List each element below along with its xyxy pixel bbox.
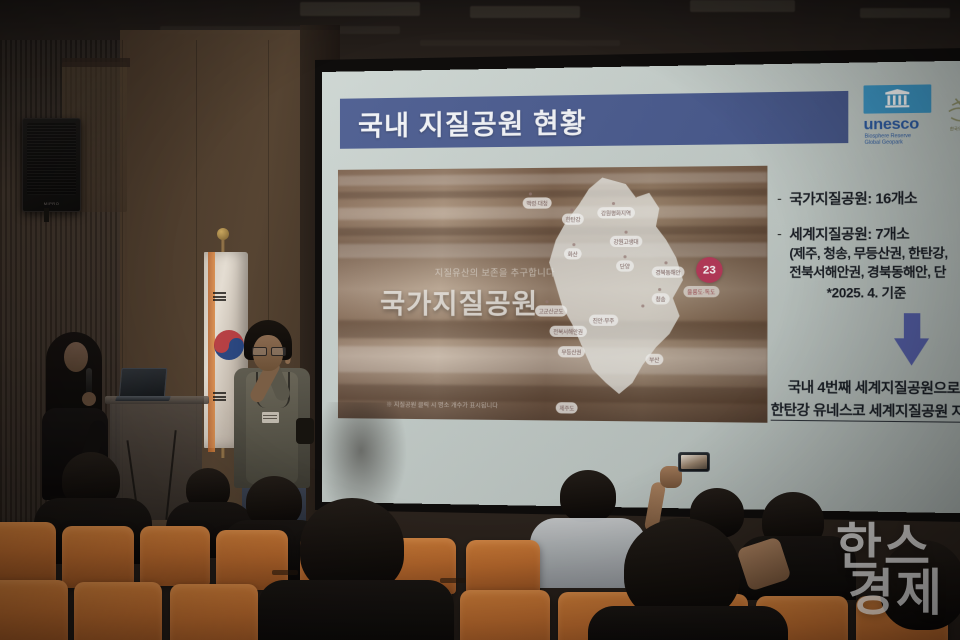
geopark-list-line2: 전북서해안권, 경북동해안, 단 bbox=[789, 264, 947, 281]
flag-fringe bbox=[208, 252, 215, 452]
press-watermark: 한스 경제 bbox=[836, 524, 944, 616]
map-label-jinan-muju: 진안·무주 bbox=[589, 315, 618, 326]
map-marker bbox=[570, 208, 573, 211]
map-badge-count: 23 bbox=[696, 257, 723, 283]
map-marker bbox=[658, 288, 661, 291]
unesco-logo: unesco Biosphere Reserve Global Geopark bbox=[864, 83, 960, 156]
as-of-date-note: *2025. 4. 기준 bbox=[827, 282, 906, 302]
map-marker bbox=[545, 300, 548, 303]
bullet-text: 국가지질공원: 16개소 bbox=[789, 189, 917, 208]
korea-geopark-map: 백령·대청 한탄강 강원평화지역 강원고생대 화산 단양 경북동해안 청송 진안… bbox=[525, 168, 767, 429]
unesco-temple-icon bbox=[883, 89, 911, 109]
lecturer-name-badge bbox=[262, 412, 279, 423]
map-label-hantangang: 한탄강 bbox=[562, 213, 584, 224]
laptop-keyboard bbox=[115, 396, 171, 401]
map-label-gangwon-peace: 강원평화지역 bbox=[597, 207, 634, 218]
audience-shoulders bbox=[258, 580, 454, 640]
taeguk-circle bbox=[214, 330, 244, 360]
auditorium-seat bbox=[170, 584, 258, 640]
bullet-dash: - bbox=[777, 191, 782, 209]
arrow-head bbox=[894, 338, 929, 365]
audience-area bbox=[0, 430, 960, 640]
map-label-baengnyeong: 백령·대청 bbox=[523, 197, 552, 208]
watermark-line-1: 한스 bbox=[836, 524, 944, 570]
auditorium-seat bbox=[74, 582, 162, 640]
down-arrow-icon bbox=[894, 313, 929, 366]
map-label-danyang: 단양 bbox=[616, 260, 633, 271]
door-header-trim bbox=[62, 58, 130, 67]
auditorium-seat bbox=[62, 526, 134, 588]
unesco-logo-box bbox=[864, 84, 932, 113]
unesco-subtitle: Biosphere Reserve Global Geopark bbox=[865, 133, 911, 146]
ceiling-light-panel bbox=[690, 0, 795, 12]
trigram-gon bbox=[213, 392, 226, 401]
map-label-cheongsong: 청송 bbox=[652, 293, 669, 304]
map-label-jeju: 제주도 bbox=[556, 402, 578, 413]
unesco-wordmark: unesco bbox=[864, 115, 919, 133]
seat-armrest-tab bbox=[272, 570, 298, 575]
audience-shoulders bbox=[588, 606, 788, 640]
slide-title: 국내 지질공원 현황 bbox=[340, 101, 587, 144]
auditorium-seat bbox=[466, 540, 540, 596]
ceiling-light-panel bbox=[470, 6, 580, 18]
map-label-busan: 부산 bbox=[645, 354, 662, 365]
speaker-brand-label: MIPRO bbox=[44, 201, 60, 206]
speaker-grill bbox=[27, 123, 76, 195]
map-label-jeonbuk-west-coast: 전북서해안권 bbox=[550, 326, 587, 337]
slide-title-banner: 국내 지질공원 현황 bbox=[340, 91, 848, 149]
bullet-text-group: 세계지질공원: 7개소 (제주, 청송, 무등산권, 한탄강, 전북서해안권, … bbox=[789, 225, 947, 281]
conclusion-line-2: 한탄강 유네스코 세계지질공원 지 bbox=[771, 398, 960, 423]
map-marker bbox=[664, 261, 667, 264]
badge-text-lines bbox=[263, 415, 277, 416]
bullet-text: 세계지질공원: 7개소 bbox=[789, 225, 947, 243]
map-label-mudeungsan: 무등산권 bbox=[558, 346, 585, 357]
smartphone bbox=[678, 452, 710, 472]
moderator-hand bbox=[82, 392, 96, 406]
map-marker bbox=[641, 304, 644, 307]
ceiling-light-panel bbox=[420, 40, 620, 46]
map-label-gangwon-paleozoic: 강원고생대 bbox=[610, 236, 642, 247]
map-marker bbox=[624, 231, 627, 234]
map-label-gyeongbuk-east-coast: 경북동해안 bbox=[652, 266, 684, 277]
unesco-subtitle-line2: Global Geopark bbox=[865, 139, 911, 146]
ceiling-light-panel bbox=[300, 2, 420, 16]
map-marker bbox=[529, 192, 532, 195]
auditorium-seat bbox=[0, 580, 68, 640]
bullet-dash: - bbox=[777, 226, 782, 281]
ceiling-light-panel bbox=[860, 8, 950, 18]
wall-speaker: MIPRO bbox=[22, 118, 81, 212]
audience-head bbox=[560, 470, 616, 522]
map-marker bbox=[572, 243, 575, 246]
map-label-ulleungdo-dokdo: 울릉도·독도 bbox=[683, 286, 719, 297]
auditorium-seat bbox=[0, 522, 56, 584]
map-label-hwasan: 화산 bbox=[564, 248, 581, 259]
moderator-face bbox=[64, 342, 88, 372]
conclusion-line-1: 국내 4번째 세계지질공원으로 bbox=[788, 375, 960, 397]
auditorium-seat bbox=[460, 590, 550, 640]
auditorium-seat bbox=[140, 526, 210, 586]
map-marker bbox=[612, 202, 615, 205]
arrow-shaft bbox=[904, 313, 920, 340]
eyeglasses-icon bbox=[252, 347, 284, 354]
screenshot-root: MIPRO bbox=[0, 0, 960, 640]
phone-screen-preview bbox=[681, 455, 707, 469]
map-label-gogunsan: 고군산군도 bbox=[535, 305, 567, 316]
trigram-geon bbox=[213, 292, 226, 301]
speaker-mount-bracket bbox=[44, 208, 49, 222]
korea-geopark-logo-caption: 한국의 국가지질공원 bbox=[942, 126, 960, 132]
photo-overlay-title: 국가지질공원 bbox=[380, 282, 538, 322]
seat-armrest-tab bbox=[440, 578, 466, 583]
bullet-global-geoparks: - 세계지질공원: 7개소 (제주, 청송, 무등산권, 한탄강, 전북서해안권… bbox=[777, 225, 960, 281]
map-marker bbox=[623, 255, 626, 258]
bullet-national-geoparks: - 국가지질공원: 16개소 bbox=[777, 189, 960, 208]
watermark-line-2: 경제 bbox=[836, 570, 944, 616]
flag-finial bbox=[217, 228, 229, 240]
korea-geopark-logo-icon bbox=[942, 86, 960, 148]
geopark-list-line1: (제주, 청송, 무등산권, 한탄강, bbox=[789, 245, 947, 262]
